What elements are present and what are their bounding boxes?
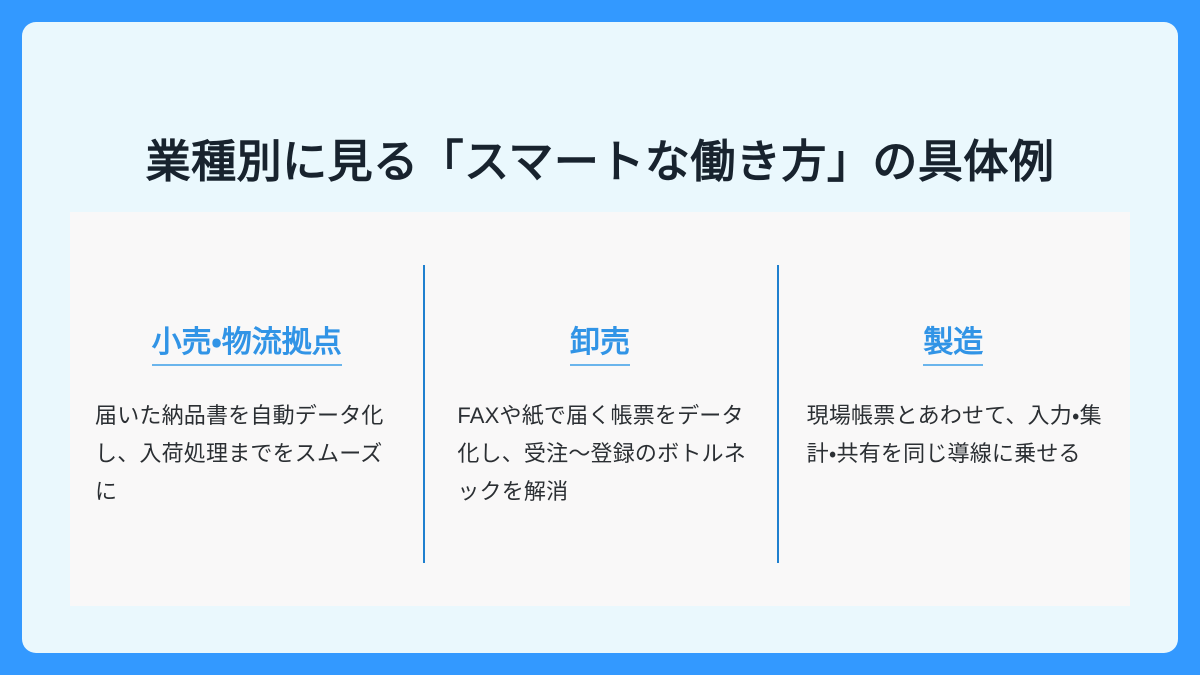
- column-heading: 小売・物流拠点: [92, 323, 401, 362]
- column-heading-text: 製造: [923, 326, 983, 366]
- column-body-text: FAXや紙で届く帳票をデータ化し、受注〜登録のボトルネックを解消: [445, 397, 754, 511]
- content-panel: 小売・物流拠点 届いた納品書を自動データ化し、入荷処理までをスムーズに 卸売 F…: [70, 212, 1130, 606]
- column-heading: 卸売: [445, 323, 754, 362]
- slide-root: 業種別に見る「スマートな働き方」の具体例 小売・物流拠点 届いた納品書を自動デー…: [0, 0, 1200, 675]
- column-body-text: 現場帳票とあわせて、入力・集計・共有を同じ導線に乗せる: [799, 397, 1108, 473]
- column-heading: 製造: [799, 323, 1108, 362]
- column-heading-text: 小売・物流拠点: [152, 326, 342, 366]
- column-manufacturing: 製造 現場帳票とあわせて、入力・集計・共有を同じ導線に乗せる: [777, 212, 1130, 606]
- slide-card: 業種別に見る「スマートな働き方」の具体例 小売・物流拠点 届いた納品書を自動デー…: [22, 22, 1178, 653]
- columns-container: 小売・物流拠点 届いた納品書を自動データ化し、入荷処理までをスムーズに 卸売 F…: [70, 212, 1130, 606]
- column-heading-text: 卸売: [570, 326, 630, 366]
- column-body-text: 届いた納品書を自動データ化し、入荷処理までをスムーズに: [92, 397, 401, 511]
- column-wholesale: 卸売 FAXや紙で届く帳票をデータ化し、受注〜登録のボトルネックを解消: [423, 212, 776, 606]
- column-retail-logistics: 小売・物流拠点 届いた納品書を自動データ化し、入荷処理までをスムーズに: [70, 212, 423, 606]
- page-title: 業種別に見る「スマートな働き方」の具体例: [22, 134, 1178, 190]
